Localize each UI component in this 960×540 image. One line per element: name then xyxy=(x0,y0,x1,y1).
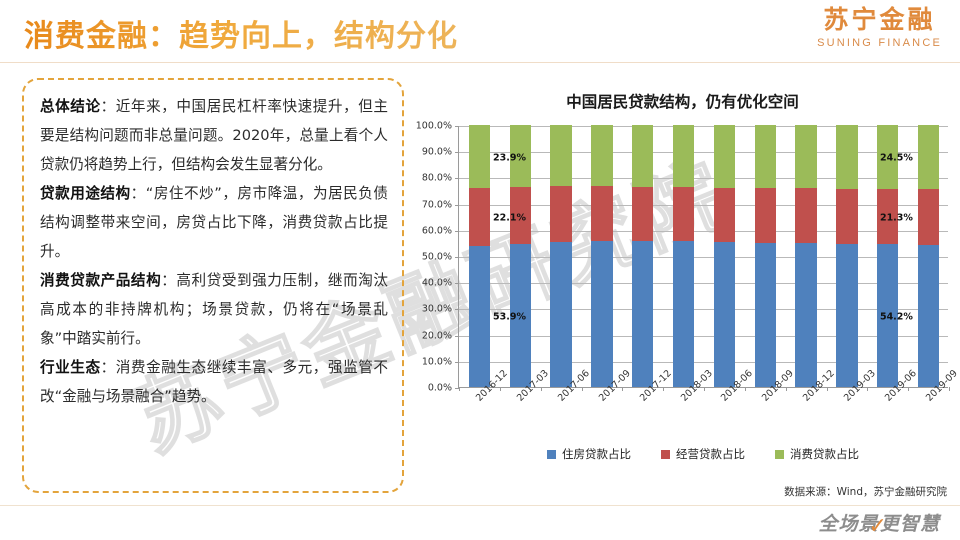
bar-column[interactable] xyxy=(755,126,776,387)
check-icon: ✓ xyxy=(869,514,888,539)
x-axis: 2016-122017-032017-062017-092017-122018-… xyxy=(458,392,948,452)
bar-segment[interactable] xyxy=(632,187,653,241)
gridline xyxy=(459,205,948,206)
legend-label: 消费贷款占比 xyxy=(790,446,859,462)
chart-panel: 中国居民贷款结构，仍有优化空间 0.0%10.0%20.0%30.0%40.0%… xyxy=(410,78,955,498)
y-axis-tick-mark xyxy=(455,336,459,337)
bar-column[interactable] xyxy=(510,126,531,387)
bar-segment[interactable] xyxy=(469,188,490,246)
summary-paragraph-label: 贷款用途结构 xyxy=(40,185,131,202)
bar-segment[interactable] xyxy=(795,243,816,387)
suning-finance-logo: 苏宁金融 SUNING FINANCE xyxy=(817,8,942,49)
y-axis-tick-label: 70.0% xyxy=(422,199,452,210)
plot-area-wrapper: 0.0%10.0%20.0%30.0%40.0%50.0%60.0%70.0%8… xyxy=(410,126,955,398)
x-axis-tick-mark xyxy=(827,387,828,391)
bar-segment[interactable] xyxy=(550,186,571,242)
bar-column[interactable] xyxy=(673,126,694,387)
slide-root: 苏宁金融研究院 消费金融：趋势向上，结构分化 苏宁金融 SUNING FINAN… xyxy=(0,0,960,540)
x-axis-tick-mark xyxy=(541,387,542,391)
y-axis-tick-mark xyxy=(455,178,459,179)
bar-segment[interactable] xyxy=(918,245,939,387)
x-axis-tick-mark xyxy=(867,387,868,391)
footer-divider xyxy=(0,505,960,506)
bar-segment[interactable] xyxy=(714,188,735,242)
bar-segment[interactable] xyxy=(755,125,776,188)
header-divider xyxy=(0,62,960,63)
legend-swatch xyxy=(775,450,784,459)
logo-chinese-text: 苏宁金融 xyxy=(817,8,942,33)
footer-tagline: 全场景✓更智慧 xyxy=(819,509,940,536)
bar-segment[interactable] xyxy=(755,243,776,387)
bar-segment[interactable] xyxy=(673,187,694,241)
gridline xyxy=(459,309,948,310)
y-axis-tick-mark xyxy=(455,126,459,127)
gridline xyxy=(459,283,948,284)
bar-segment[interactable] xyxy=(632,125,653,187)
x-axis-tick-mark xyxy=(459,387,460,391)
bar-column[interactable] xyxy=(714,126,735,387)
y-axis-tick-label: 60.0% xyxy=(422,225,452,236)
bar-segment[interactable] xyxy=(469,125,490,188)
summary-text-box: 总体结论：近年来，中国居民杠杆率快速提升，但主要是结构问题而非总量问题。2020… xyxy=(22,78,404,493)
bar-segment[interactable] xyxy=(714,125,735,188)
legend-label: 住房贷款占比 xyxy=(562,446,631,462)
gridline xyxy=(459,178,948,179)
bar-segment[interactable] xyxy=(591,125,612,186)
y-axis-tick-mark xyxy=(455,257,459,258)
source-note: 数据来源：Wind，苏宁金融研究院 xyxy=(784,484,947,499)
bar-segment[interactable] xyxy=(550,242,571,387)
gridline xyxy=(459,362,948,363)
bar-segment[interactable] xyxy=(836,244,857,387)
legend-item[interactable]: 消费贷款占比 xyxy=(775,446,859,462)
y-axis-tick-label: 100.0% xyxy=(416,121,452,132)
x-axis-tick-mark xyxy=(500,387,501,391)
summary-paragraph-label: 消费贷款产品结构 xyxy=(40,272,161,289)
y-axis-tick-mark xyxy=(455,362,459,363)
bar-column[interactable] xyxy=(550,126,571,387)
gridline xyxy=(459,126,948,127)
bar-segment[interactable] xyxy=(918,125,939,189)
x-axis-tick-mark xyxy=(745,387,746,391)
bar-data-label: 24.5% xyxy=(880,153,913,164)
bar-data-label: 22.1% xyxy=(493,212,526,223)
bar-column[interactable] xyxy=(918,126,939,387)
y-axis-tick-label: 80.0% xyxy=(422,173,452,184)
summary-paragraph: 总体结论：近年来，中国居民杠杆率快速提升，但主要是结构问题而非总量问题。2020… xyxy=(40,92,388,179)
slide-header: 消费金融：趋势向上，结构分化 苏宁金融 SUNING FINANCE xyxy=(0,0,960,62)
y-axis-tick-mark xyxy=(455,283,459,284)
plot-area: 53.9%22.1%23.9%54.2%21.3%24.5% xyxy=(458,126,948,388)
bar-segment[interactable] xyxy=(591,186,612,241)
y-axis-tick-label: 40.0% xyxy=(422,278,452,289)
bar-segment[interactable] xyxy=(918,189,939,245)
y-axis-tick-mark xyxy=(455,309,459,310)
bar-segment[interactable] xyxy=(632,241,653,387)
x-axis-tick-mark xyxy=(622,387,623,391)
bar-column[interactable] xyxy=(469,126,490,387)
summary-paragraph: 消费贷款产品结构：高利贷受到强力压制，继而淘汰高成本的非持牌机构；场景贷款，仍将… xyxy=(40,266,388,353)
chart-legend: 住房贷款占比经营贷款占比消费贷款占比 xyxy=(458,446,948,462)
y-axis-tick-label: 10.0% xyxy=(422,356,452,367)
bar-data-label: 21.3% xyxy=(880,213,913,224)
bar-segment[interactable] xyxy=(714,242,735,387)
bar-column[interactable] xyxy=(877,126,898,387)
x-axis-tick-mark xyxy=(582,387,583,391)
bar-data-label: 23.9% xyxy=(493,152,526,163)
logo-english-text: SUNING FINANCE xyxy=(817,38,942,49)
gridline xyxy=(459,336,948,337)
bar-column[interactable] xyxy=(632,126,653,387)
y-axis-tick-mark xyxy=(455,231,459,232)
legend-item[interactable]: 经营贷款占比 xyxy=(661,446,745,462)
legend-item[interactable]: 住房贷款占比 xyxy=(547,446,631,462)
bar-data-label: 53.9% xyxy=(493,312,526,323)
tagline-part-two: 更智慧 xyxy=(880,513,940,535)
bar-segment[interactable] xyxy=(836,189,857,244)
gridline xyxy=(459,231,948,232)
bar-segment[interactable] xyxy=(673,241,694,387)
y-axis: 0.0%10.0%20.0%30.0%40.0%50.0%60.0%70.0%8… xyxy=(410,126,456,388)
summary-paragraph: 行业生态：消费金融生态继续丰富、多元，强监管不改“金融与场景融合”趋势。 xyxy=(40,353,388,411)
chart-title: 中国居民贷款结构，仍有优化空间 xyxy=(410,90,955,112)
bar-segment[interactable] xyxy=(795,125,816,188)
page-title: 消费金融：趋势向上，结构分化 xyxy=(24,11,458,55)
y-axis-tick-label: 0.0% xyxy=(428,383,452,394)
x-axis-tick-mark xyxy=(949,387,950,391)
bar-segment[interactable] xyxy=(550,125,571,186)
summary-paragraph: 贷款用途结构：“房住不炒”，房市降温，为居民负债结构调整带来空间，房贷占比下降，… xyxy=(40,179,388,266)
summary-paragraph-label: 行业生态 xyxy=(40,359,101,376)
x-axis-tick-mark xyxy=(704,387,705,391)
x-axis-tick-mark xyxy=(786,387,787,391)
y-axis-tick-label: 30.0% xyxy=(422,304,452,315)
bar-data-label: 54.2% xyxy=(880,311,913,322)
bar-column[interactable] xyxy=(836,126,857,387)
bar-segment[interactable] xyxy=(591,241,612,387)
bar-column[interactable] xyxy=(795,126,816,387)
bar-segment[interactable] xyxy=(755,188,776,242)
y-axis-tick-label: 20.0% xyxy=(422,330,452,341)
legend-swatch xyxy=(661,450,670,459)
y-axis-tick-label: 90.0% xyxy=(422,147,452,158)
gridline xyxy=(459,257,948,258)
y-axis-tick-label: 50.0% xyxy=(422,252,452,263)
bar-segment[interactable] xyxy=(673,125,694,187)
y-axis-tick-mark xyxy=(455,205,459,206)
legend-swatch xyxy=(547,450,556,459)
bar-segment[interactable] xyxy=(795,188,816,243)
bar-segment[interactable] xyxy=(836,125,857,189)
gridline xyxy=(459,152,948,153)
bar-column[interactable] xyxy=(591,126,612,387)
legend-label: 经营贷款占比 xyxy=(676,446,745,462)
x-axis-tick-mark xyxy=(663,387,664,391)
y-axis-tick-mark xyxy=(455,152,459,153)
summary-paragraph-label: 总体结论 xyxy=(40,98,101,115)
x-axis-tick-mark xyxy=(908,387,909,391)
bar-segment[interactable] xyxy=(469,246,490,387)
